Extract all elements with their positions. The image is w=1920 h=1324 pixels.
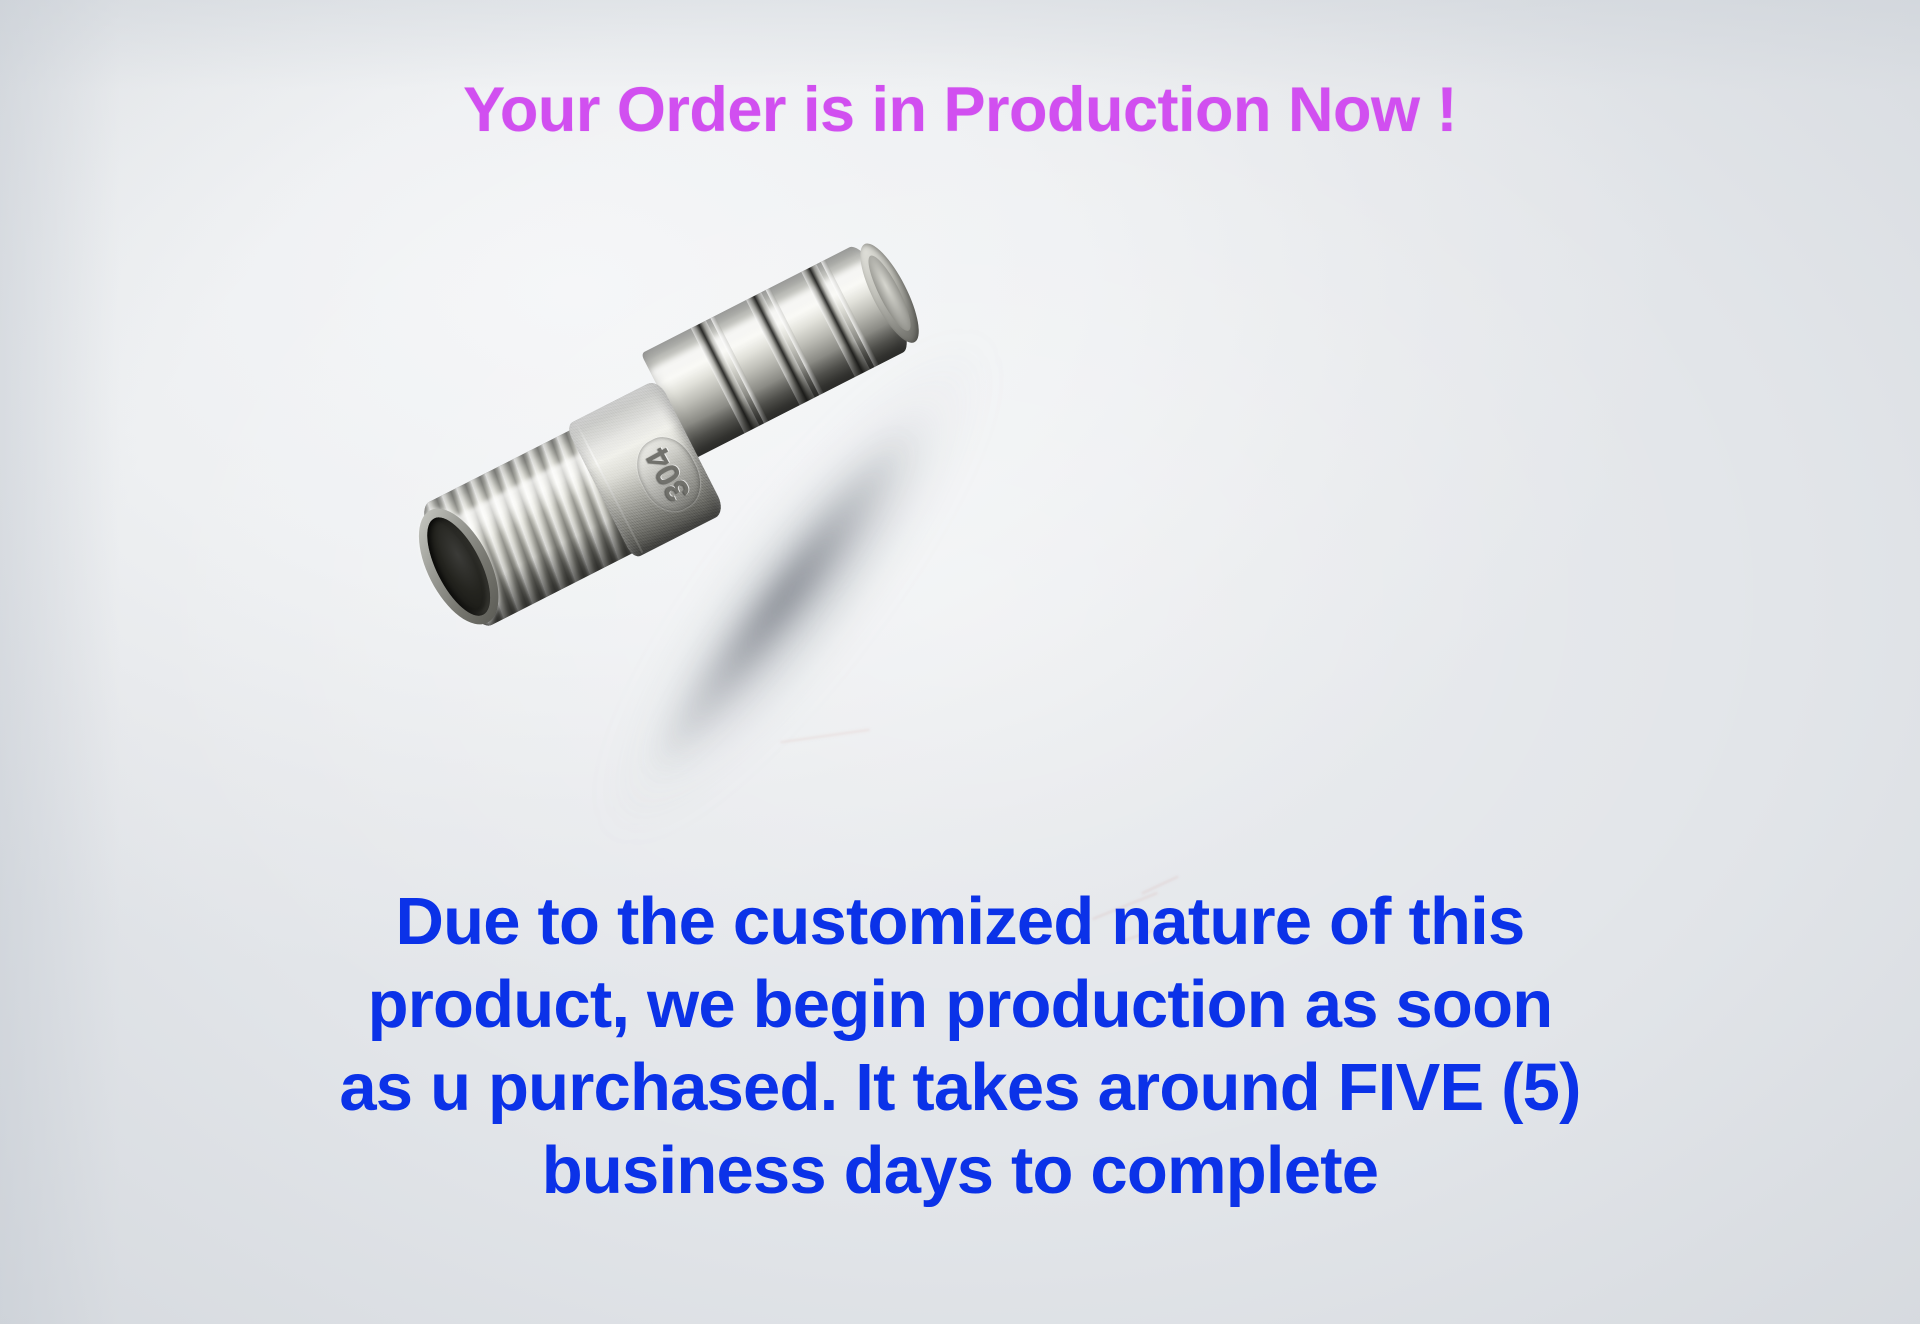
page-title-text: Your Order is in Production Now ! bbox=[463, 76, 1457, 144]
page-title: Your Order is in Production Now ! bbox=[0, 76, 1920, 144]
production-notice: Due to the customized nature of this pro… bbox=[0, 880, 1920, 1212]
poster-canvas: 304 Your Order is in Production Now ! Du… bbox=[0, 0, 1920, 1324]
notice-line: product, we begin production as soon bbox=[0, 963, 1920, 1046]
notice-line: as u purchased. It takes around FIVE (5) bbox=[0, 1046, 1920, 1129]
notice-line: Due to the customized nature of this bbox=[0, 880, 1920, 963]
product-photo: 304 bbox=[470, 300, 1130, 730]
notice-line: business days to complete bbox=[0, 1129, 1920, 1212]
